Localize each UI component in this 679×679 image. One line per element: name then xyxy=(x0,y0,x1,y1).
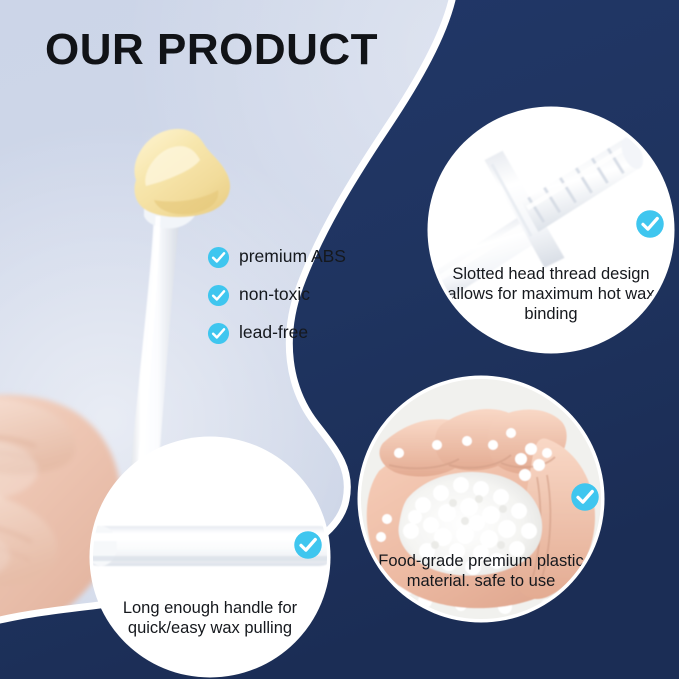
callout-caption: Slotted head thread design allows for ma… xyxy=(439,264,663,324)
check-circle-icon xyxy=(207,246,230,269)
list-item: premium ABS xyxy=(207,244,407,270)
feature-label: lead-free xyxy=(239,324,308,342)
callout-food-grade-pellets: Food-grade premium plastic material. saf… xyxy=(361,379,601,619)
list-item: lead-free xyxy=(207,320,407,346)
feature-label: non-toxic xyxy=(239,286,310,304)
long-handle-photo xyxy=(93,440,327,674)
list-item: non-toxic xyxy=(207,282,407,308)
page-title: OUR PRODUCT xyxy=(45,26,378,74)
callout-long-handle: Long enough handle for quick/easy wax pu… xyxy=(93,440,327,674)
check-circle-icon xyxy=(293,530,323,560)
feature-label: premium ABS xyxy=(239,248,346,266)
check-circle-icon xyxy=(570,482,600,512)
feature-list: premium ABS non-toxic lead-free xyxy=(207,244,407,346)
product-infographic-poster: OUR PRODUCT premium ABS non-toxic xyxy=(0,0,679,679)
callout-caption: Long enough handle for quick/easy wax pu… xyxy=(101,598,319,638)
check-circle-icon xyxy=(207,322,230,345)
check-circle-icon xyxy=(207,284,230,307)
callout-caption: Food-grade premium plastic material. saf… xyxy=(369,551,593,591)
check-circle-icon xyxy=(635,209,665,239)
